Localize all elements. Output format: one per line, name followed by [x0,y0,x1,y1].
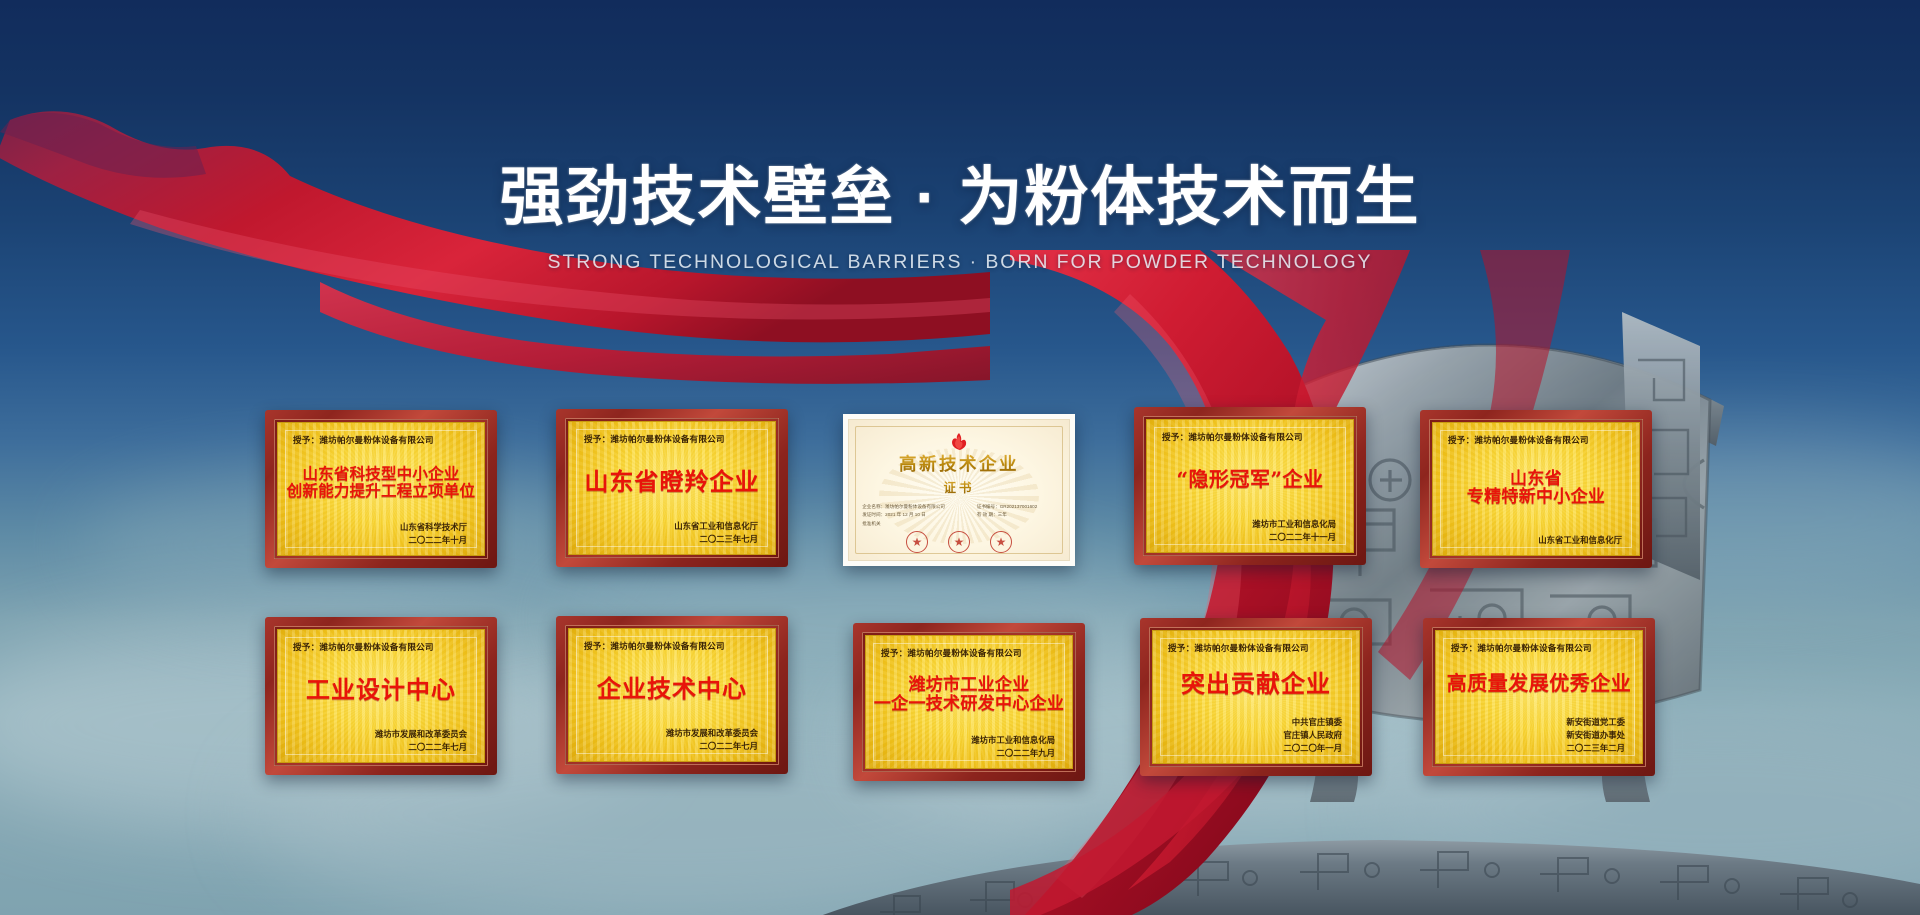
page-title: 强劲技术壁垒 · 为粉体技术而生 [0,165,1920,229]
plaque-title-line: 高质量发展优秀企业 [1447,673,1632,694]
plaque-shandong-gazelle-enterprise[interactable]: 授予：潍坊帕尔曼粉体设备有限公司山东省瞪羚企业山东省工业和信息化厅二〇二三年七月 [556,409,788,567]
certificate-field-right: 有 效 期：三年 [977,511,1007,519]
banner-stage: 强劲技术壁垒 · 为粉体技术而生 STRONG TECHNOLOGICAL BA… [0,0,1920,915]
plaque-issuer-block: 中共官庄镇委官庄镇人民政府二〇二〇年一月 [1283,716,1342,755]
plaque-frame-bevel: 授予：潍坊帕尔曼粉体设备有限公司山东省瞪羚企业山东省工业和信息化厅二〇二三年七月 [565,418,779,558]
plaque-issuer-line: 二〇二二年七月 [375,741,467,754]
plaque-title-line: 专精特新中小企业 [1467,489,1605,507]
plaque-issuer-block: 潍坊市工业和信息化局二〇二二年十一月 [1252,518,1336,544]
plaque-title-block: 山东省科技型中小企业创新能力提升工程立项单位 [289,444,473,521]
plaque-issuer-block: 潍坊市发展和改革委员会二〇二二年七月 [666,727,758,753]
plaque-title-line: 企业技术中心 [597,676,747,701]
certificate-field-row: 企业名称：潍坊帕尔曼粉体设备有限公司证书编号：GR202137001602 [862,503,1056,511]
certificate-stamps: ★★★ [906,531,1012,553]
plaque-industrial-design-center[interactable]: 授予：潍坊帕尔曼粉体设备有限公司工业设计中心潍坊市发展和改革委员会二〇二二年七月 [265,617,497,775]
red-silk-ribbon-right [1010,250,1920,915]
plaque-high-quality-development-excellent-enterprise[interactable]: 授予：潍坊帕尔曼粉体设备有限公司高质量发展优秀企业新安街道党工委新安街道办事处二… [1423,618,1655,776]
plaque-face: 授予：潍坊帕尔曼粉体设备有限公司突出贡献企业中共官庄镇委官庄镇人民政府二〇二〇年… [1152,630,1360,764]
plaque-face: 授予：潍坊帕尔曼粉体设备有限公司山东省科技型中小企业创新能力提升工程立项单位山东… [277,422,485,556]
plaque-face: 授予：潍坊帕尔曼粉体设备有限公司山东省瞪羚企业山东省工业和信息化厅二〇二三年七月 [568,421,776,555]
plaque-enterprise-technology-center[interactable]: 授予：潍坊帕尔曼粉体设备有限公司企业技术中心潍坊市发展和改革委员会二〇二二年七月 [556,616,788,774]
certificate-field-row: 发证时间：2021 年 12 月 10 日有 效 期：三年 [862,511,1056,519]
plaque-frame-bevel: 授予：潍坊帕尔曼粉体设备有限公司工业设计中心潍坊市发展和改革委员会二〇二二年七月 [274,626,488,766]
plaque-issuer-line: 中共官庄镇委 [1283,716,1342,729]
plaque-title-line: 创新能力提升工程立项单位 [287,483,475,499]
plaque-title-block: 潍坊市工业企业一企一技术研发中心企业 [877,657,1061,734]
certificate-subtitle: 证书 [943,477,974,496]
plaque-shandong-specialized-sme[interactable]: 授予：潍坊帕尔曼粉体设备有限公司山东省专精特新中小企业山东省工业和信息化厅 [1420,410,1652,568]
plaque-issuer-block: 山东省工业和信息化厅二〇二三年七月 [674,520,758,546]
certificate-field-left: 企业名称：潍坊帕尔曼粉体设备有限公司 [862,503,967,511]
official-seal-icon: ★ [990,531,1012,553]
hero-heading-block: 强劲技术壁垒 · 为粉体技术而生 STRONG TECHNOLOGICAL BA… [0,0,1920,274]
plaque-title-line: 山东省科技型中小企业 [302,466,459,482]
plaque-title-block: 高质量发展优秀企业 [1447,652,1631,716]
plaque-issuer-block: 新安街道党工委新安街道办事处二〇二三年二月 [1566,716,1625,755]
plaque-issuer-line: 新安街道党工委 [1566,716,1625,729]
high-tech-enterprise-certificate[interactable]: 高新技术企业证书企业名称：潍坊帕尔曼粉体设备有限公司证书编号：GR2021370… [843,414,1075,566]
plaque-title-block: 突出贡献企业 [1164,652,1348,716]
plaque-issuer-line: 二〇二三年七月 [674,533,758,546]
plaque-frame-bevel: 授予：潍坊帕尔曼粉体设备有限公司高质量发展优秀企业新安街道党工委新安街道办事处二… [1432,627,1646,767]
plaque-issuer-line: 潍坊市工业和信息化局 [971,734,1055,747]
plaque-issuer-line: 潍坊市工业和信息化局 [1252,518,1336,531]
plaque-outstanding-contribution-enterprise[interactable]: 授予：潍坊帕尔曼粉体设备有限公司突出贡献企业中共官庄镇委官庄镇人民政府二〇二〇年… [1140,618,1372,776]
certificate-field-left: 发证时间：2021 年 12 月 10 日 [862,511,967,519]
plaque-issuer-line: 官庄镇人民政府 [1283,729,1342,742]
plaque-weifang-one-enterprise-one-tech-rd-center[interactable]: 授予：潍坊帕尔曼粉体设备有限公司潍坊市工业企业一企一技术研发中心企业潍坊市工业和… [853,623,1085,781]
certificate-title: 高新技术企业 [899,451,1019,476]
plaque-title-line: 山东省 [1510,471,1562,489]
flame-emblem-icon [949,433,969,450]
plaque-title-line: 突出贡献企业 [1181,671,1331,696]
page-subtitle: STRONG TECHNOLOGICAL BARRIERS · BORN FOR… [0,251,1920,274]
plaque-issuer-line: 二〇二二年十月 [400,534,467,547]
plaque-shandong-sme-tech-innovation[interactable]: 授予：潍坊帕尔曼粉体设备有限公司山东省科技型中小企业创新能力提升工程立项单位山东… [265,410,497,568]
plaque-issuer-line: 二〇二〇年一月 [1283,742,1342,755]
plaque-issuer-line: 潍坊市发展和改革委员会 [375,728,467,741]
plaque-title-line: 山东省瞪羚企业 [585,469,760,494]
plaque-face: 授予：潍坊帕尔曼粉体设备有限公司高质量发展优秀企业新安街道党工委新安街道办事处二… [1435,630,1643,764]
plaque-frame-bevel: 授予：潍坊帕尔曼粉体设备有限公司山东省专精特新中小企业山东省工业和信息化厅 [1429,419,1643,559]
plaque-issuer-line: 山东省工业和信息化厅 [1538,534,1622,547]
plaque-title-block: 工业设计中心 [289,651,473,728]
plaque-frame-bevel: 授予：潍坊帕尔曼粉体设备有限公司“隐形冠军”企业潍坊市工业和信息化局二〇二二年十… [1143,416,1357,556]
plaque-face: 授予：潍坊帕尔曼粉体设备有限公司“隐形冠军”企业潍坊市工业和信息化局二〇二二年十… [1146,419,1354,553]
plaque-issuer-line: 新安街道办事处 [1566,729,1625,742]
certificate-field-right: 证书编号：GR202137001602 [977,503,1038,511]
plaque-face: 授予：潍坊帕尔曼粉体设备有限公司山东省专精特新中小企业山东省工业和信息化厅 [1432,422,1640,556]
certificate-field-left: 批准机关 [862,520,967,528]
plaque-title-block: 山东省专精特新中小企业 [1444,444,1628,534]
plaque-frame-bevel: 授予：潍坊帕尔曼粉体设备有限公司潍坊市工业企业一企一技术研发中心企业潍坊市工业和… [862,632,1076,772]
official-seal-icon: ★ [948,531,970,553]
official-seal-icon: ★ [906,531,928,553]
plaque-issuer-line: 山东省工业和信息化厅 [674,520,758,533]
plaque-face: 授予：潍坊帕尔曼粉体设备有限公司工业设计中心潍坊市发展和改革委员会二〇二二年七月 [277,629,485,763]
plaque-face: 授予：潍坊帕尔曼粉体设备有限公司企业技术中心潍坊市发展和改革委员会二〇二二年七月 [568,628,776,762]
certificate-field-row: 批准机关 [862,520,1056,528]
plaque-face: 授予：潍坊帕尔曼粉体设备有限公司潍坊市工业企业一企一技术研发中心企业潍坊市工业和… [865,635,1073,769]
plaque-issuer-block: 山东省科学技术厅二〇二二年十月 [400,521,467,547]
plaque-title-line: “隐形冠军”企业 [1176,469,1323,490]
certificate-frame: 高新技术企业证书企业名称：潍坊帕尔曼粉体设备有限公司证书编号：GR2021370… [848,419,1070,561]
plaque-issuer-line: 二〇二二年七月 [666,740,758,753]
plaque-frame-bevel: 授予：潍坊帕尔曼粉体设备有限公司企业技术中心潍坊市发展和改革委员会二〇二二年七月 [565,625,779,765]
plaque-title-line: 潍坊市工业企业 [908,677,1029,695]
plaque-title-line: 工业设计中心 [306,677,456,702]
plaque-title-block: “隐形冠军”企业 [1158,441,1342,518]
plaque-issuer-line: 山东省科学技术厅 [400,521,467,534]
plaque-title-block: 山东省瞪羚企业 [580,443,764,520]
plaque-title-block: 企业技术中心 [580,650,764,727]
plaque-frame-bevel: 授予：潍坊帕尔曼粉体设备有限公司山东省科技型中小企业创新能力提升工程立项单位山东… [274,419,488,559]
plaque-hidden-champion-enterprise[interactable]: 授予：潍坊帕尔曼粉体设备有限公司“隐形冠军”企业潍坊市工业和信息化局二〇二二年十… [1134,407,1366,565]
plaque-issuer-line: 二〇二二年九月 [971,747,1055,760]
plaque-issuer-block: 潍坊市发展和改革委员会二〇二二年七月 [375,728,467,754]
certificate-fields: 企业名称：潍坊帕尔曼粉体设备有限公司证书编号：GR202137001602发证时… [862,503,1056,528]
plaque-issuer-line: 二〇二三年二月 [1566,742,1625,755]
plaque-title-line: 一企一技术研发中心企业 [874,696,1064,714]
plaque-issuer-block: 潍坊市工业和信息化局二〇二二年九月 [971,734,1055,760]
plaque-issuer-line: 潍坊市发展和改革委员会 [666,727,758,740]
plaque-issuer-line: 二〇二二年十一月 [1252,531,1336,544]
plaque-frame-bevel: 授予：潍坊帕尔曼粉体设备有限公司突出贡献企业中共官庄镇委官庄镇人民政府二〇二〇年… [1149,627,1363,767]
plaque-issuer-block: 山东省工业和信息化厅 [1538,534,1622,547]
